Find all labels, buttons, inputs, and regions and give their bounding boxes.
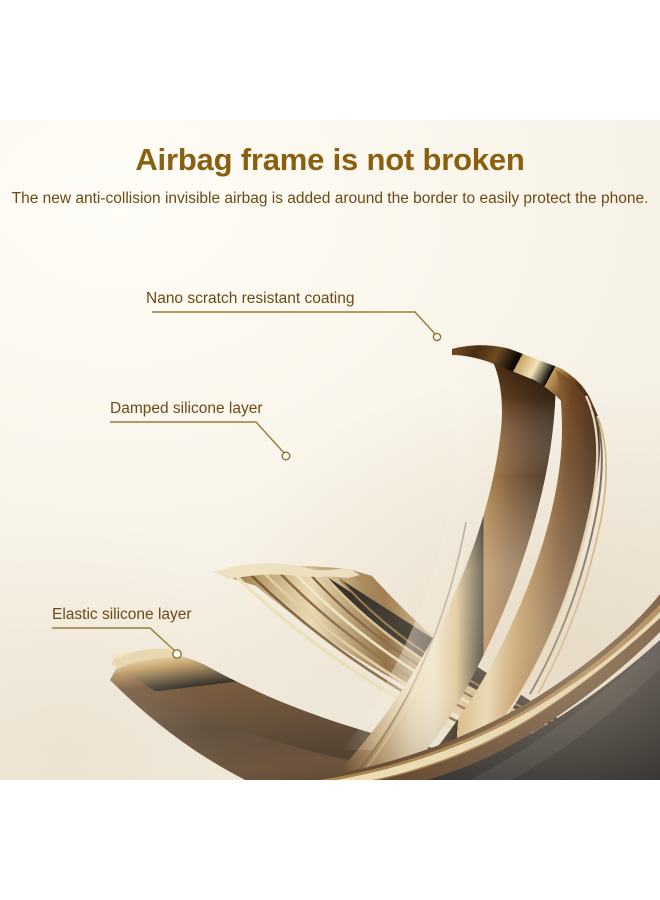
product-feature-banner-page: Airbag frame is not broken The new anti-… <box>0 0 660 900</box>
callout-label-nano-coating: Nano scratch resistant coating <box>146 290 355 308</box>
callout-label-damped-silicone: Damped silicone layer <box>110 400 263 418</box>
callout-label-elastic-silicone: Elastic silicone layer <box>52 606 192 624</box>
banner-subtitle: The new anti-collision invisible airbag … <box>8 188 652 210</box>
banner-image: Airbag frame is not broken The new anti-… <box>0 120 660 780</box>
artwork-layer <box>0 120 660 780</box>
page-bottom-whitespace <box>0 780 660 900</box>
banner-title: Airbag frame is not broken <box>0 142 660 178</box>
